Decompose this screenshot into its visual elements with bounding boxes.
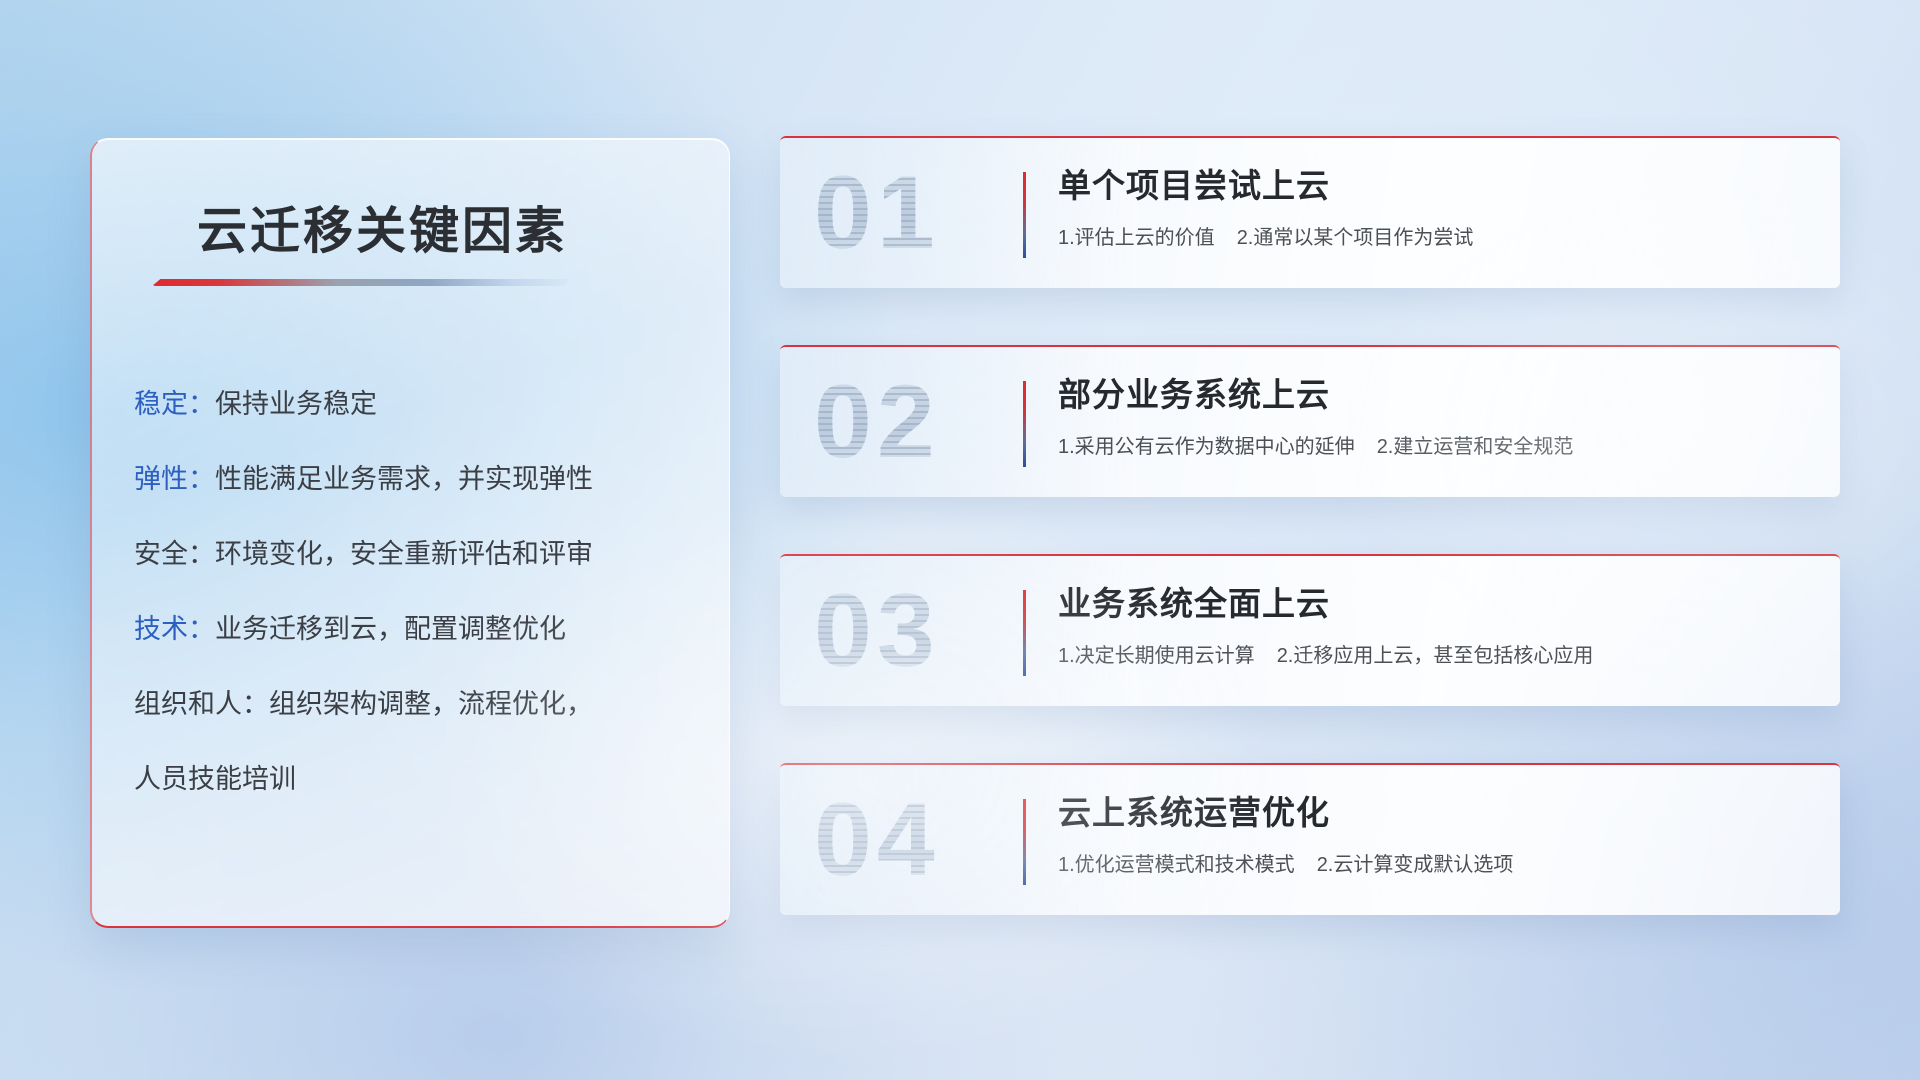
step-card[interactable]: 01 单个项目尝试上云 1.评估上云的价值2.通常以某个项目作为尝试 — [780, 136, 1840, 288]
list-item: 组织和人：组织架构调整，流程优化， — [134, 667, 694, 742]
factor-body: 组织架构调整，流程优化， — [269, 689, 593, 719]
factor-label: 安全： — [134, 539, 215, 569]
list-item: 技术：业务迁移到云，配置调整优化 — [134, 592, 694, 667]
step-detail-item: 2.迁移应用上云，甚至包括核心应用 — [1277, 645, 1594, 667]
step-body: 单个项目尝试上云 1.评估上云的价值2.通常以某个项目作为尝试 — [1058, 164, 1816, 252]
factor-body: 环境变化，安全重新评估和评审 — [215, 539, 593, 569]
step-detail-item: 1.采用公有云作为数据中心的延伸 — [1058, 436, 1355, 458]
step-body: 业务系统全面上云 1.决定长期使用云计算2.迁移应用上云，甚至包括核心应用 — [1058, 582, 1816, 670]
factor-label: 组织和人： — [134, 689, 269, 719]
step-detail-item: 1.评估上云的价值 — [1058, 227, 1215, 249]
step-detail: 1.决定长期使用云计算2.迁移应用上云，甚至包括核心应用 — [1058, 642, 1816, 670]
step-number: 02 — [814, 363, 940, 481]
step-heading: 单个项目尝试上云 — [1058, 164, 1816, 208]
slide-root: 云迁移关键因素 稳定：保持业务稳定 弹性：性能满足业务需求，并实现弹性 安全：环… — [0, 0, 1920, 1080]
factor-body-continued: 人员技能培训 — [134, 764, 296, 794]
step-divider — [1023, 799, 1026, 885]
factor-body: 业务迁移到云，配置调整优化 — [215, 614, 566, 644]
step-number: 04 — [814, 781, 940, 899]
list-item: 弹性：性能满足业务需求，并实现弹性 — [134, 442, 694, 517]
key-factors-panel: 云迁移关键因素 稳定：保持业务稳定 弹性：性能满足业务需求，并实现弹性 安全：环… — [90, 138, 730, 928]
list-item: 安全：环境变化，安全重新评估和评审 — [134, 517, 694, 592]
step-card[interactable]: 02 部分业务系统上云 1.采用公有云作为数据中心的延伸2.建立运营和安全规范 — [780, 345, 1840, 497]
migration-steps-list: 01 单个项目尝试上云 1.评估上云的价值2.通常以某个项目作为尝试 02 部分… — [780, 136, 1840, 972]
factor-label: 技术： — [134, 614, 215, 644]
step-divider — [1023, 381, 1026, 467]
list-item-continuation: 人员技能培训 — [134, 742, 694, 817]
step-detail-item: 2.云计算变成默认选项 — [1317, 854, 1514, 876]
step-heading: 业务系统全面上云 — [1058, 582, 1816, 626]
step-card[interactable]: 03 业务系统全面上云 1.决定长期使用云计算2.迁移应用上云，甚至包括核心应用 — [780, 554, 1840, 706]
factor-list: 稳定：保持业务稳定 弹性：性能满足业务需求，并实现弹性 安全：环境变化，安全重新… — [134, 367, 694, 817]
step-body: 部分业务系统上云 1.采用公有云作为数据中心的延伸2.建立运营和安全规范 — [1058, 373, 1816, 461]
step-number: 01 — [814, 154, 940, 272]
step-heading: 部分业务系统上云 — [1058, 373, 1816, 417]
title-underline-rule — [152, 279, 572, 286]
step-divider — [1023, 590, 1026, 676]
step-detail-item: 1.优化运营模式和技术模式 — [1058, 854, 1295, 876]
factor-body: 性能满足业务需求，并实现弹性 — [215, 464, 593, 494]
factor-body: 保持业务稳定 — [215, 389, 377, 419]
step-detail: 1.评估上云的价值2.通常以某个项目作为尝试 — [1058, 224, 1816, 252]
step-detail-item: 1.决定长期使用云计算 — [1058, 645, 1255, 667]
step-detail-item: 2.建立运营和安全规范 — [1377, 436, 1574, 458]
list-item: 稳定：保持业务稳定 — [134, 367, 694, 442]
step-detail: 1.优化运营模式和技术模式2.云计算变成默认选项 — [1058, 851, 1816, 879]
step-body: 云上系统运营优化 1.优化运营模式和技术模式2.云计算变成默认选项 — [1058, 791, 1816, 879]
step-heading: 云上系统运营优化 — [1058, 791, 1816, 835]
step-divider — [1023, 172, 1026, 258]
factor-label: 稳定： — [134, 389, 215, 419]
step-number: 03 — [814, 572, 940, 690]
step-card[interactable]: 04 云上系统运营优化 1.优化运营模式和技术模式2.云计算变成默认选项 — [780, 763, 1840, 915]
step-detail: 1.采用公有云作为数据中心的延伸2.建立运营和安全规范 — [1058, 433, 1816, 461]
step-detail-item: 2.通常以某个项目作为尝试 — [1237, 227, 1474, 249]
factor-label: 弹性： — [134, 464, 215, 494]
page-title: 云迁移关键因素 — [197, 191, 568, 263]
